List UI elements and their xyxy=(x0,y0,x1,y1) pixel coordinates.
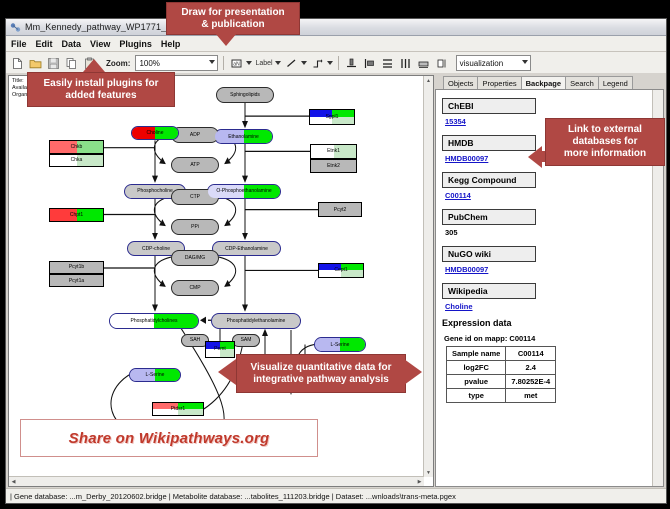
pathway-info-line-title: Title: xyxy=(12,78,27,85)
canvas-horizontal-scrollbar[interactable]: ◀ ▶ xyxy=(9,476,424,486)
pathway-node-label: Chpt1 xyxy=(70,212,83,218)
annotation-visualize-line2: integrative pathway analysis xyxy=(253,374,389,386)
pathway-node-cmp[interactable]: CMP xyxy=(171,280,219,296)
chevron-down-icon[interactable] xyxy=(327,61,333,65)
pathway-node-cept1[interactable]: Cept1 xyxy=(318,263,364,278)
distribute-icon[interactable] xyxy=(398,56,413,71)
backpage-link-wikipedia[interactable]: Choline xyxy=(445,302,651,311)
menu-item-data[interactable]: Data xyxy=(62,39,82,49)
backpage-header-chebi: ChEBI xyxy=(442,98,536,114)
pathway-node-etnk1[interactable]: Etnk1 xyxy=(310,144,357,159)
new-file-icon[interactable] xyxy=(10,56,25,71)
pathway-info-line-availability: Availa xyxy=(12,85,27,92)
pathway-node-chka[interactable]: Chka xyxy=(49,154,104,167)
line-icon[interactable] xyxy=(284,56,299,71)
table-cell-value: C00114 xyxy=(506,347,556,361)
backpage-header-pubchem: PubChem xyxy=(442,209,536,225)
pathway-node-label: Pemt xyxy=(214,346,226,352)
svg-text:aN: aN xyxy=(234,61,241,67)
pathway-node-label: Etnk1 xyxy=(327,148,340,154)
zoom-value: 100% xyxy=(139,59,159,68)
pathway-node-ptdsr1[interactable]: Ptdsr1 xyxy=(152,402,204,417)
menu-item-view[interactable]: View xyxy=(90,39,110,49)
gene-id-line: Gene id on mapp: C00114 xyxy=(444,334,651,343)
save-disk-icon[interactable] xyxy=(46,56,61,71)
menu-item-plugins[interactable]: Plugins xyxy=(119,39,152,49)
pathway-node-label: SAH xyxy=(190,337,200,343)
annotation-visualize-right-arrow-icon xyxy=(404,359,422,385)
visualization-combo[interactable]: visualization xyxy=(456,55,531,71)
pathway-node-label: CMP xyxy=(189,285,200,291)
annotation-plugins-line2: added features xyxy=(65,90,136,102)
pathway-node-pcyt2[interactable]: Pcyt2 xyxy=(318,202,362,217)
backpage-header-hmdb: HMDB xyxy=(442,135,536,151)
pathway-node-l-serine-right[interactable]: L-Serine xyxy=(314,337,366,352)
same-width-icon[interactable] xyxy=(416,56,431,71)
pathway-node-chkb[interactable]: Chkb xyxy=(49,140,104,153)
pathway-node-label: Ptdsr1 xyxy=(171,406,185,412)
tab-properties[interactable]: Properties xyxy=(477,76,521,89)
pathway-node-etnk2[interactable]: Etnk2 xyxy=(310,159,357,174)
table-row: pvalue7.80252E-4 xyxy=(447,375,556,389)
annotation-links-line2: databases for xyxy=(572,136,637,148)
pathway-node-label: Chka xyxy=(71,157,83,163)
pathway-node-label: CTP xyxy=(190,194,200,200)
annotation-plugins: Easily install plugins for added feature… xyxy=(27,72,175,107)
pathway-node-l-serine-left[interactable]: L-Serine xyxy=(129,368,181,383)
chevron-down-icon[interactable] xyxy=(246,61,252,65)
table-cell-key: pvalue xyxy=(447,375,506,389)
tab-search[interactable]: Search xyxy=(565,76,599,89)
annotation-plugins-line1: Easily install plugins for xyxy=(43,78,158,90)
screenshot-root: Mm_Kennedy_pathway_WP1771_45176.gpml Fil… xyxy=(0,0,670,509)
pathway-node-label: SAM xyxy=(241,337,252,343)
annotation-plugins-arrow-icon xyxy=(83,59,105,72)
copy-icon[interactable] xyxy=(64,56,79,71)
pathway-node-label: L-Serine xyxy=(146,372,165,378)
datanode-shape-tool[interactable]: aN xyxy=(229,56,252,71)
expression-data-table: Sample nameC00114log2FC2.4pvalue7.80252E… xyxy=(446,346,556,403)
pathway-node-label: Pcyt1a xyxy=(69,278,84,284)
pathway-node-cdp-ethanolamine[interactable]: CDP-Ethanolamine xyxy=(212,241,281,256)
side-panel-tabs: Objects Properties Backpage Search Legen… xyxy=(435,75,664,89)
tab-objects[interactable]: Objects xyxy=(443,76,478,89)
pathway-info-text: Title: Availa Organ xyxy=(12,78,27,99)
scroll-right-arrow-icon[interactable]: ▶ xyxy=(415,477,424,486)
status-bar-text: | Gene database: ...m_Derby_20120602.bri… xyxy=(10,492,456,501)
annotation-share: Share on Wikipathways.org xyxy=(20,419,318,457)
pathway-node-label: Ethanolamine xyxy=(228,134,259,140)
pathway-node-label: L-Serine xyxy=(331,342,350,348)
datanode-shape-icon[interactable]: aN xyxy=(229,56,244,71)
menu-item-edit[interactable]: Edit xyxy=(36,39,53,49)
pathvisio-icon xyxy=(10,22,21,33)
backpage-header-kegg-compound: Kegg Compound xyxy=(442,172,536,188)
annotation-draw-line2: & publication xyxy=(201,19,264,31)
status-bar: | Gene database: ...m_Derby_20120602.bri… xyxy=(6,488,666,503)
pathway-node-pemt[interactable]: Pemt xyxy=(205,341,235,358)
table-row: log2FC2.4 xyxy=(447,361,556,375)
annotation-visualize-line1: Visualize quantitative data for xyxy=(251,362,392,374)
pathway-node-label: Phosphatidylethanolamine xyxy=(227,318,286,324)
table-row: typemet xyxy=(447,389,556,403)
annotation-links-arrow-icon xyxy=(528,146,542,168)
pathway-node-label: Sphingolipids xyxy=(230,92,260,98)
pathway-node-dagmg[interactable]: DAG/MG xyxy=(171,250,219,266)
open-folder-icon[interactable] xyxy=(28,56,43,71)
pathway-node-pcyt1b[interactable]: Pcyt1b xyxy=(49,261,104,274)
annotation-draw: Draw for presentation & publication xyxy=(166,2,300,35)
pathway-node-label: Sgpl1 xyxy=(326,114,339,120)
table-cell-key: Sample name xyxy=(447,347,506,361)
annotation-draw-arrow-icon xyxy=(215,33,237,46)
interaction-tool[interactable] xyxy=(310,56,333,71)
pathway-node-ethanolamine-top[interactable]: Ethanolamine xyxy=(214,129,273,144)
pathway-node-choline-top[interactable]: Choline xyxy=(131,126,179,141)
pathway-node-label: ATP xyxy=(190,162,199,168)
pathway-info-line-organism: Organ xyxy=(12,92,27,99)
pathway-node-sgpl1[interactable]: Sgpl1 xyxy=(309,109,355,125)
annotation-links: Link to external databases for more info… xyxy=(545,118,665,166)
scroll-down-arrow-icon[interactable]: ▼ xyxy=(424,468,433,477)
backpage-link-nugo-wiki[interactable]: HMDB00097 xyxy=(445,265,651,274)
toolbar-separator xyxy=(223,56,224,70)
label-tool-label: Label xyxy=(255,60,272,67)
pathway-node-label: Chkb xyxy=(71,144,83,150)
pathway-node-label: DAG/MG xyxy=(185,255,205,261)
annotation-draw-line1: Draw for presentation xyxy=(181,7,284,19)
visualization-value: visualization xyxy=(460,59,504,68)
table-cell-value: 7.80252E-4 xyxy=(506,375,556,389)
tab-backpage[interactable]: Backpage xyxy=(521,76,566,90)
pathway-node-label: Cept1 xyxy=(334,267,347,273)
align-top-icon[interactable] xyxy=(344,56,359,71)
backpage-header-wikipedia: Wikipedia xyxy=(442,283,536,299)
menu-bar: File Edit Data View Plugins Help xyxy=(6,36,666,52)
table-cell-key: log2FC xyxy=(447,361,506,375)
pathway-node-ppi[interactable]: PPi xyxy=(171,219,219,235)
interaction-icon[interactable] xyxy=(310,56,325,71)
backpage-link-kegg-compound[interactable]: C00114 xyxy=(445,191,651,200)
pathway-node-label: O-Phosphoethanolamine xyxy=(216,188,271,194)
pathway-node-sam[interactable]: SAM xyxy=(232,334,260,347)
backpage-header-nugo-wiki: NuGO wiki xyxy=(442,246,536,262)
table-cell-value: met xyxy=(506,389,556,403)
tab-legend[interactable]: Legend xyxy=(598,76,633,89)
pathway-node-o-phosphoethanolamine[interactable]: O-Phosphoethanolamine xyxy=(207,184,281,199)
pathway-node-chpt1[interactable]: Chpt1 xyxy=(49,208,104,221)
annotation-links-line3: more information xyxy=(564,148,646,160)
annotation-links-line1: Link to external xyxy=(568,124,642,136)
pathway-node-label: ADP xyxy=(190,132,200,138)
annotation-visualize-left-arrow-icon xyxy=(218,359,236,385)
chevron-down-icon[interactable] xyxy=(301,61,307,65)
pathway-canvas[interactable]: SphingolipidsSgpl1EthanolamineEtnk1Etnk2… xyxy=(29,76,424,477)
table-cell-value: 2.4 xyxy=(506,361,556,375)
same-height-icon[interactable] xyxy=(434,56,449,71)
pathway-node-label: PPi xyxy=(191,224,199,230)
backpage-value-pubchem: 305 xyxy=(445,228,651,237)
scroll-up-arrow-icon[interactable]: ▲ xyxy=(424,76,433,85)
annotation-visualize: Visualize quantitative data for integrat… xyxy=(236,354,406,393)
pathway-node-label: Pcyt2 xyxy=(334,207,347,213)
pathway-node-label: CDP-choline xyxy=(142,246,170,252)
table-row: Sample nameC00114 xyxy=(447,347,556,361)
pathway-node-phosphatidylcholines[interactable]: Phosphatidylcholines xyxy=(109,313,199,329)
annotation-share-text: Share on Wikipathways.org xyxy=(69,430,270,447)
chevron-down-icon[interactable] xyxy=(275,61,281,65)
scroll-left-arrow-icon[interactable]: ◀ xyxy=(9,477,18,486)
menu-item-help[interactable]: Help xyxy=(161,39,181,49)
zoom-combo[interactable]: 100% xyxy=(135,55,218,71)
pathway-node-label: Phosphatidylcholines xyxy=(131,318,178,324)
title-bar: Mm_Kennedy_pathway_WP1771_45176.gpml xyxy=(6,19,666,36)
pathway-node-atp[interactable]: ATP xyxy=(171,157,219,173)
align-left-icon[interactable] xyxy=(362,56,377,71)
chevron-down-icon xyxy=(209,60,215,64)
pathway-node-label: CDP-Ethanolamine xyxy=(225,246,268,252)
canvas-vertical-scrollbar[interactable]: ▲ ▼ xyxy=(423,76,433,477)
table-cell-key: type xyxy=(447,389,506,403)
pathway-node-sphingolipids[interactable]: Sphingolipids xyxy=(216,87,274,103)
pathway-node-pcyt1a[interactable]: Pcyt1a xyxy=(49,274,104,287)
menu-item-file[interactable]: File xyxy=(11,39,27,49)
pathway-node-label: Pcyt1b xyxy=(69,264,84,270)
zoom-label: Zoom: xyxy=(106,59,130,68)
toolbar-separator xyxy=(338,56,339,70)
pathway-node-label: Etnk2 xyxy=(327,163,340,169)
expression-data-heading: Expression data xyxy=(442,318,651,328)
chevron-down-icon xyxy=(522,60,528,64)
pathway-node-label: Choline xyxy=(147,130,164,136)
pathway-node-label: Phosphocholine xyxy=(137,188,173,194)
line-tool[interactable] xyxy=(284,56,307,71)
stack-vertical-icon[interactable] xyxy=(380,56,395,71)
label-tool[interactable]: Label xyxy=(255,60,280,67)
pathway-node-phosphatidylethanolamine[interactable]: Phosphatidylethanolamine xyxy=(211,313,301,329)
